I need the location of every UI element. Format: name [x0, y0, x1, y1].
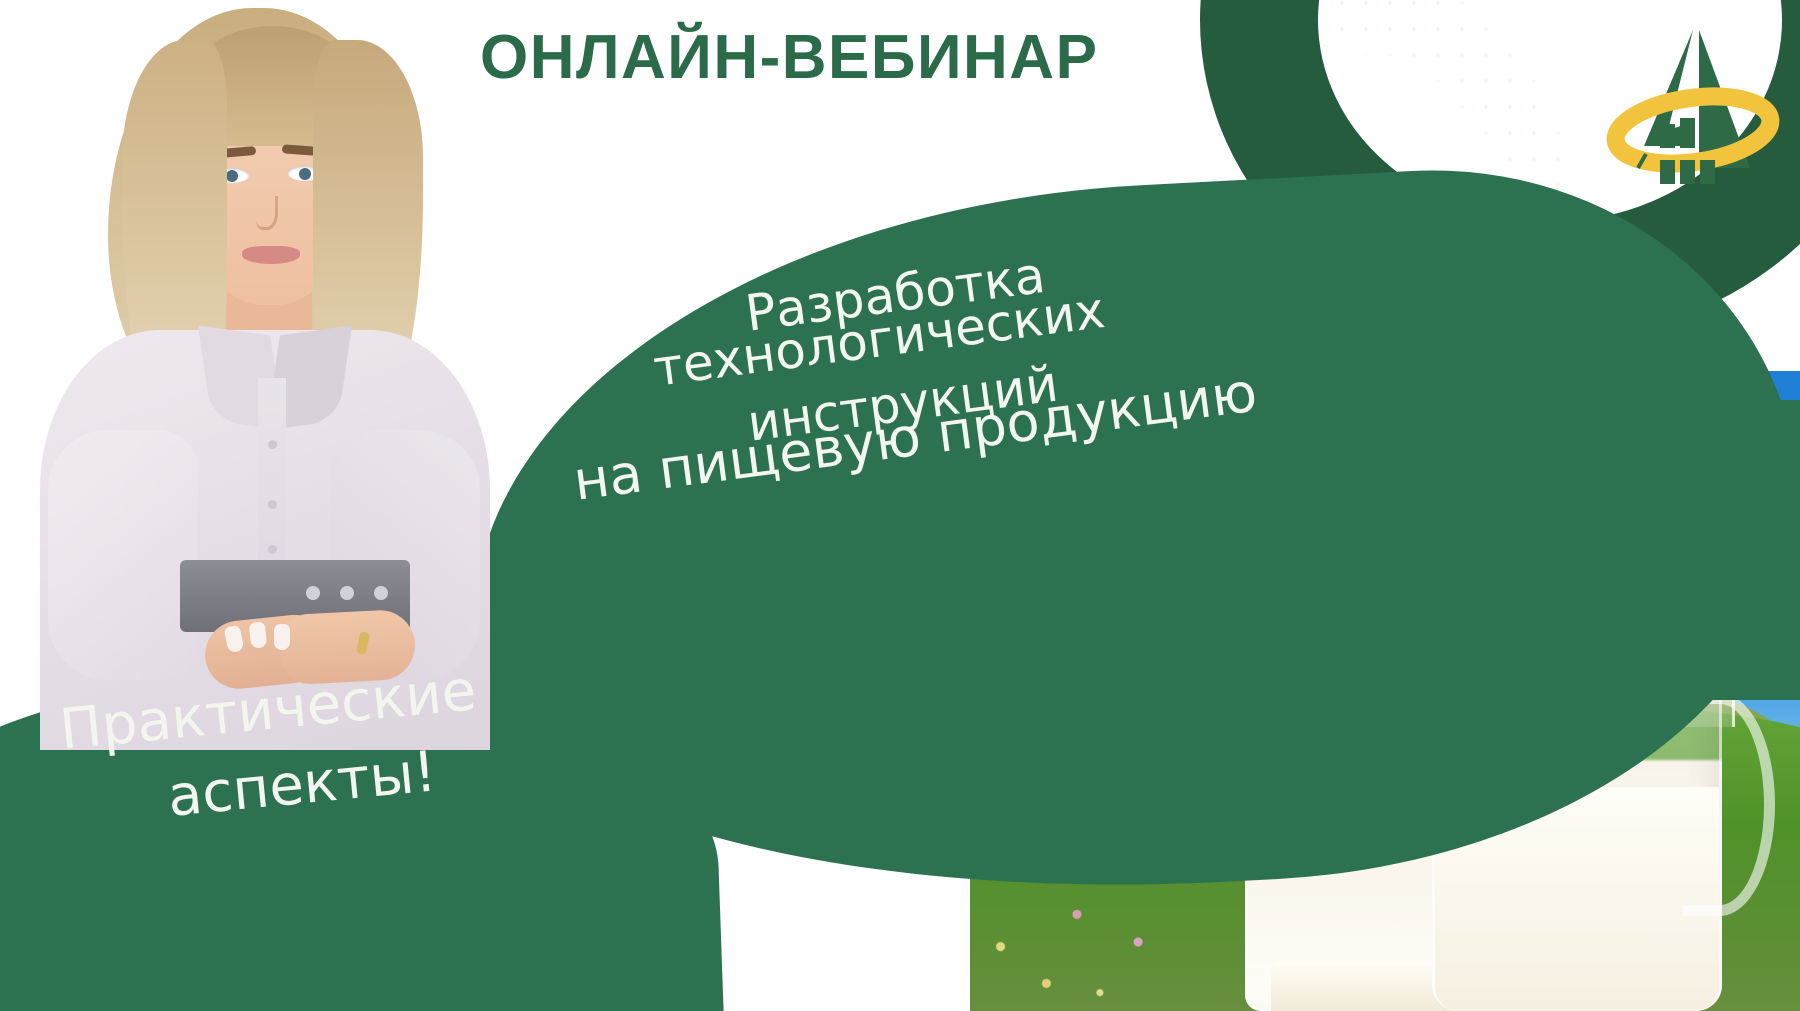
nose	[256, 196, 278, 230]
mouth	[242, 246, 300, 264]
presenter-portrait	[30, 0, 500, 740]
kicker-title: ОНЛАЙН-ВЕБИНАР	[480, 22, 1200, 93]
logo-bar	[1700, 112, 1715, 148]
logo-bar	[1680, 118, 1695, 148]
company-logo[interactable]	[1598, 18, 1788, 200]
logo-bar	[1680, 160, 1695, 184]
shirt-button	[268, 545, 277, 554]
arm-left	[48, 430, 198, 680]
fingernail	[274, 624, 290, 650]
logo-bar	[1700, 160, 1715, 184]
headline: Разработка технологических инструкций на…	[560, 286, 1360, 513]
shirt-button	[268, 440, 277, 449]
logo-bar	[1660, 124, 1675, 148]
fingernail	[249, 621, 268, 649]
tagline: Практические аспекты!	[60, 700, 620, 829]
webinar-banner: ОНЛАЙН-ВЕБИНАР Разработка технологически…	[0, 0, 1800, 1011]
shirt-button	[268, 500, 277, 509]
logo-bar	[1660, 160, 1675, 184]
